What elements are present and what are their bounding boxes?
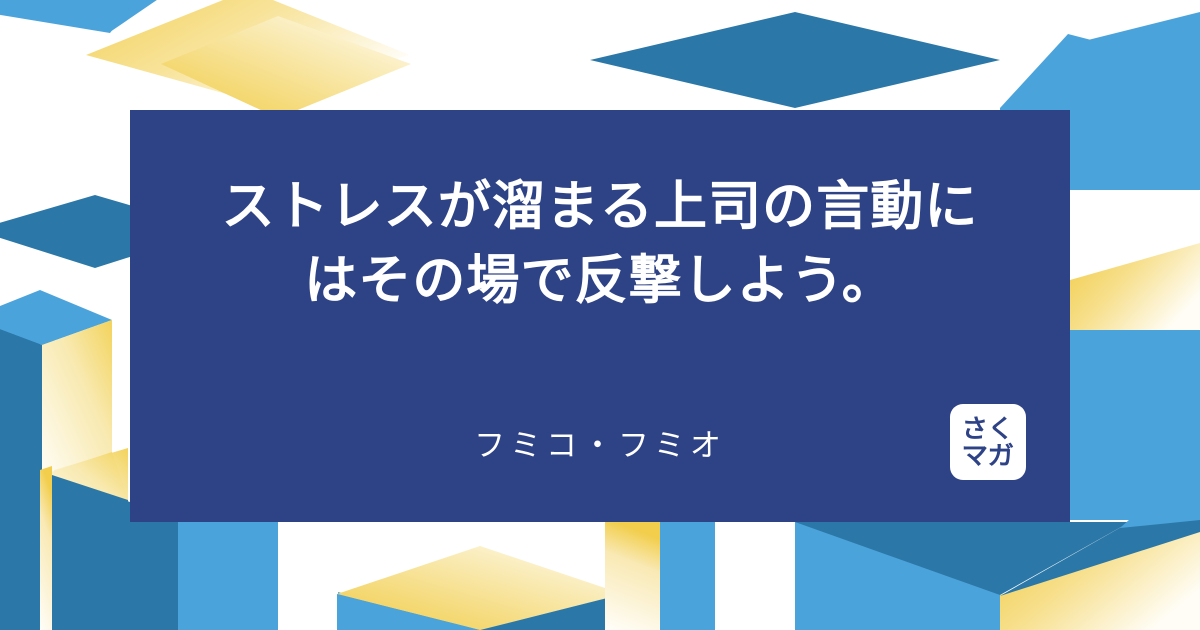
quote-author: フミコ・フミオ [130,420,1070,465]
quote-card: ストレスが溜まる上司の言動に はその場で反撃しよう。 フミコ・フミオ さく マガ [130,110,1070,522]
og-image-canvas: ストレスが溜まる上司の言動に はその場で反撃しよう。 フミコ・フミオ さく マガ [0,0,1200,630]
quote-title: ストレスが溜まる上司の言動に はその場で反撃しよう。 [185,170,1015,318]
quote-footer: フミコ・フミオ さく マガ [130,404,1070,480]
logo-line-2: マガ [962,443,1014,469]
sakumaga-logo[interactable]: さく マガ [950,404,1026,480]
logo-line-1: さく [962,416,1014,442]
